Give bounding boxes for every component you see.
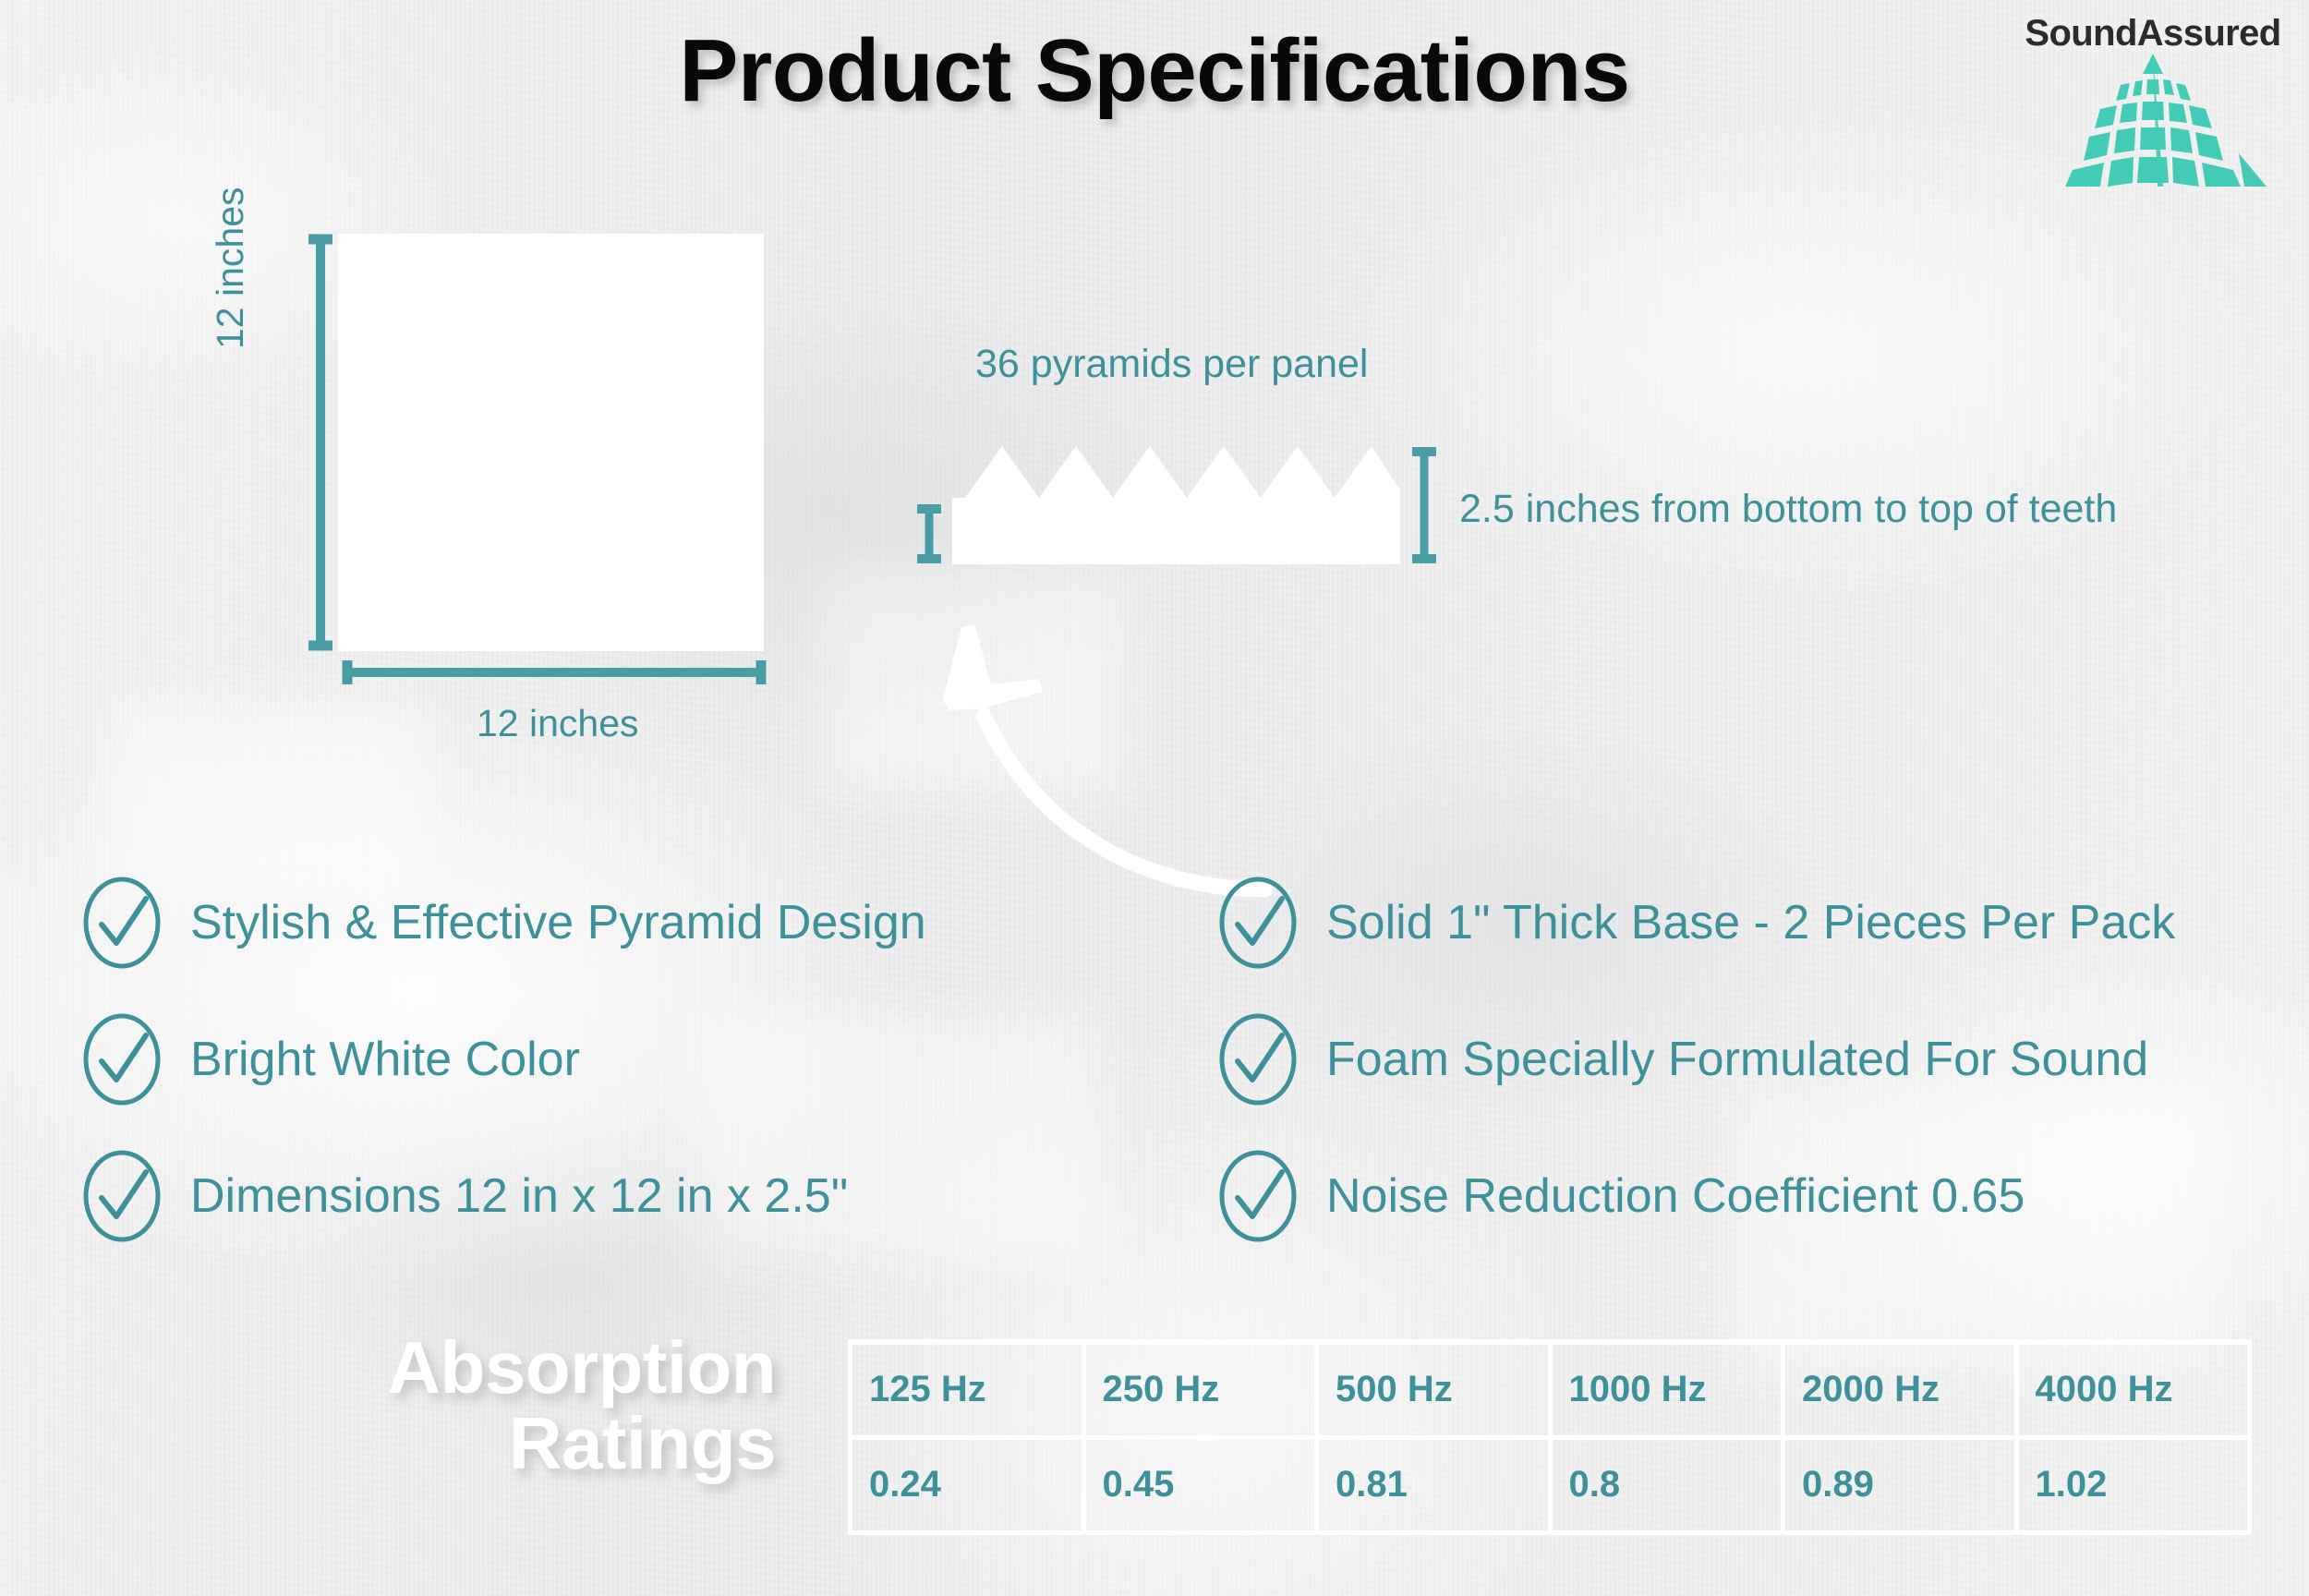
- panel-height-dimension-line: [308, 234, 332, 651]
- feature-label: Foam Specially Formulated For Sound: [1326, 1035, 2148, 1083]
- table-header-cell: 2000 Hz: [1783, 1342, 2017, 1438]
- feature-list-right: Solid 1" Thick Base - 2 Pieces Per Pack …: [1217, 854, 2175, 1264]
- list-item: Foam Specially Formulated For Sound: [1217, 991, 2175, 1128]
- table-header-cell: 1000 Hz: [1550, 1342, 1783, 1438]
- table-row-frequencies: 125 Hz 250 Hz 500 Hz 1000 Hz 2000 Hz 400…: [851, 1342, 2250, 1438]
- check-circle-icon: [81, 875, 163, 971]
- list-item: Solid 1" Thick Base - 2 Pieces Per Pack: [1217, 854, 2175, 991]
- panel-width-dimension-line: [342, 660, 767, 684]
- table-value-cell: 0.45: [1083, 1438, 1317, 1533]
- teeth-height-dimension-line: [1412, 446, 1436, 564]
- brand-wordmark: SoundAssured: [2019, 13, 2287, 54]
- pyramid-count-label: 36 pyramids per panel: [975, 342, 1368, 387]
- check-circle-icon: [81, 1148, 163, 1244]
- check-circle-icon: [1217, 875, 1299, 971]
- table-value-cell: 0.24: [851, 1438, 1084, 1533]
- table-value-cell: 0.81: [1317, 1438, 1551, 1533]
- check-circle-icon: [1217, 1011, 1299, 1107]
- feature-list-left: Stylish & Effective Pyramid Design Brigh…: [81, 854, 926, 1264]
- absorption-ratings-table: 125 Hz 250 Hz 500 Hz 1000 Hz 2000 Hz 400…: [848, 1339, 2252, 1535]
- list-item: Bright White Color: [81, 991, 926, 1128]
- feature-label: Noise Reduction Coefficient 0.65: [1326, 1172, 2025, 1220]
- table-row-values: 0.24 0.45 0.81 0.8 0.89 1.02: [851, 1438, 2250, 1533]
- table-value-cell: 1.02: [2016, 1438, 2250, 1533]
- panel-height-label: 12 inches: [209, 164, 252, 349]
- panel-width-label: 12 inches: [477, 702, 639, 745]
- table-value-cell: 0.8: [1550, 1438, 1783, 1533]
- feature-label: Bright White Color: [190, 1035, 580, 1083]
- background-blotch: [831, 573, 1127, 794]
- foam-panel-face: [338, 234, 764, 651]
- table-value-cell: 0.89: [1783, 1438, 2017, 1533]
- table-header-cell: 125 Hz: [851, 1342, 1084, 1438]
- list-item: Stylish & Effective Pyramid Design: [81, 854, 926, 991]
- brand-logo: SoundAssured: [2019, 7, 2287, 192]
- table-header-cell: 4000 Hz: [2016, 1342, 2250, 1438]
- teeth-height-label: 2.5 inches from bottom to top of teeth: [1459, 487, 2117, 532]
- check-circle-icon: [1217, 1148, 1299, 1244]
- pyramid-profile-shape: [952, 446, 1400, 564]
- list-item: Dimensions 12 in x 12 in x 2.5": [81, 1128, 926, 1264]
- feature-label: Dimensions 12 in x 12 in x 2.5": [190, 1172, 848, 1220]
- check-circle-icon: [81, 1011, 163, 1107]
- list-item: Noise Reduction Coefficient 0.65: [1217, 1128, 2175, 1264]
- infographic-canvas: Product Specifications SoundAssured: [0, 0, 2309, 1596]
- base-thickness-dimension-line: [917, 503, 941, 564]
- absorption-heading: Absorption Ratings: [166, 1330, 776, 1481]
- absorption-heading-line1: Absorption: [166, 1330, 776, 1406]
- pyramid-logo-icon: [2025, 52, 2281, 187]
- absorption-heading-line2: Ratings: [166, 1406, 776, 1481]
- page-title: Product Specifications: [0, 20, 2309, 122]
- feature-label: Stylish & Effective Pyramid Design: [190, 899, 926, 947]
- table-header-cell: 250 Hz: [1083, 1342, 1317, 1438]
- feature-label: Solid 1" Thick Base - 2 Pieces Per Pack: [1326, 899, 2175, 947]
- table-header-cell: 500 Hz: [1317, 1342, 1551, 1438]
